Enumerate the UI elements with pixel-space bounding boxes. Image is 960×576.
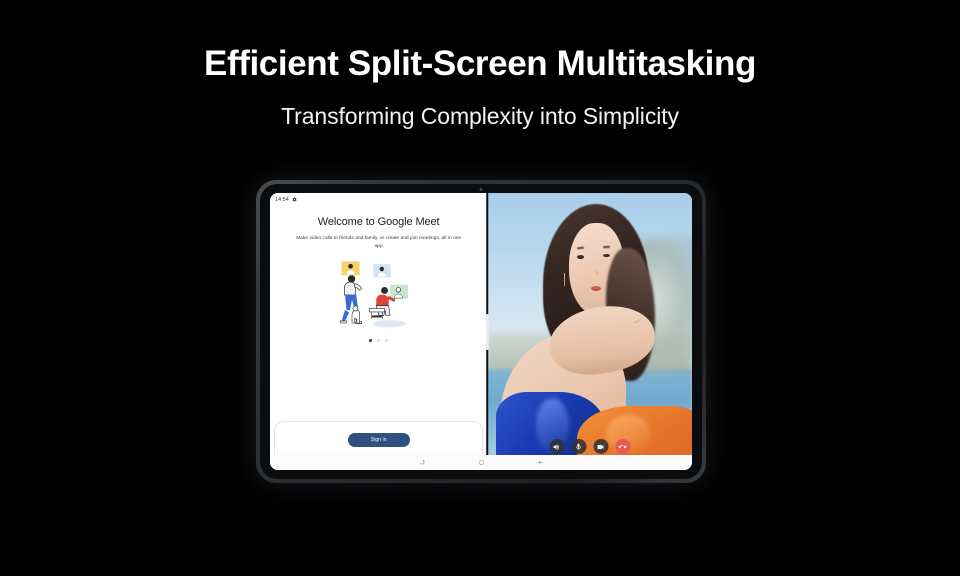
call-controls <box>549 439 630 454</box>
meet-title: Welcome to Google Meet <box>318 216 440 228</box>
pager-dot-3[interactable] <box>385 339 388 342</box>
tablet-screen: 14:54 Welcome to Google Meet Make video … <box>270 193 692 470</box>
video-camera-icon[interactable] <box>593 439 608 454</box>
sign-in-button[interactable]: Sign in <box>348 433 410 447</box>
speaker-icon[interactable] <box>549 439 564 454</box>
gear-icon <box>292 197 297 202</box>
status-bar: 14:54 <box>270 193 487 206</box>
slide-canvas: Efficient Split-Screen Multitasking Tran… <box>0 0 960 576</box>
pager-dot-1[interactable] <box>369 339 372 342</box>
pane-video-call[interactable] <box>487 193 692 470</box>
pager-dot-2[interactable] <box>377 339 380 342</box>
home-icon[interactable] <box>478 459 485 466</box>
meet-subtitle: Make video calls to friends and family, … <box>293 235 465 250</box>
front-camera-icon <box>480 188 483 191</box>
recents-icon[interactable] <box>419 459 426 466</box>
tablet-device: 14:54 Welcome to Google Meet Make video … <box>256 180 706 483</box>
page-subtitle: Transforming Complexity into Simplicity <box>0 103 960 130</box>
back-icon[interactable] <box>537 459 544 466</box>
tablet-bezel: 14:54 Welcome to Google Meet Make video … <box>260 184 702 479</box>
status-time: 14:54 <box>275 197 289 203</box>
microphone-icon[interactable] <box>571 439 586 454</box>
eye-left <box>577 255 584 258</box>
pane-google-meet[interactable]: 14:54 Welcome to Google Meet Make video … <box>270 193 487 470</box>
lips <box>591 286 601 291</box>
system-navigation-bar <box>270 455 692 470</box>
page-title: Efficient Split-Screen Multitasking <box>0 44 960 84</box>
nose <box>595 269 599 275</box>
end-call-icon[interactable] <box>615 439 630 454</box>
eyebrow-right <box>603 245 610 247</box>
meet-onboarding: Welcome to Google Meet Make video calls … <box>270 206 487 421</box>
video-call-feed <box>487 193 692 470</box>
split-screen-divider-handle[interactable] <box>486 314 489 350</box>
people-video-call-illustration <box>323 260 435 332</box>
onboarding-pager[interactable] <box>369 339 388 342</box>
